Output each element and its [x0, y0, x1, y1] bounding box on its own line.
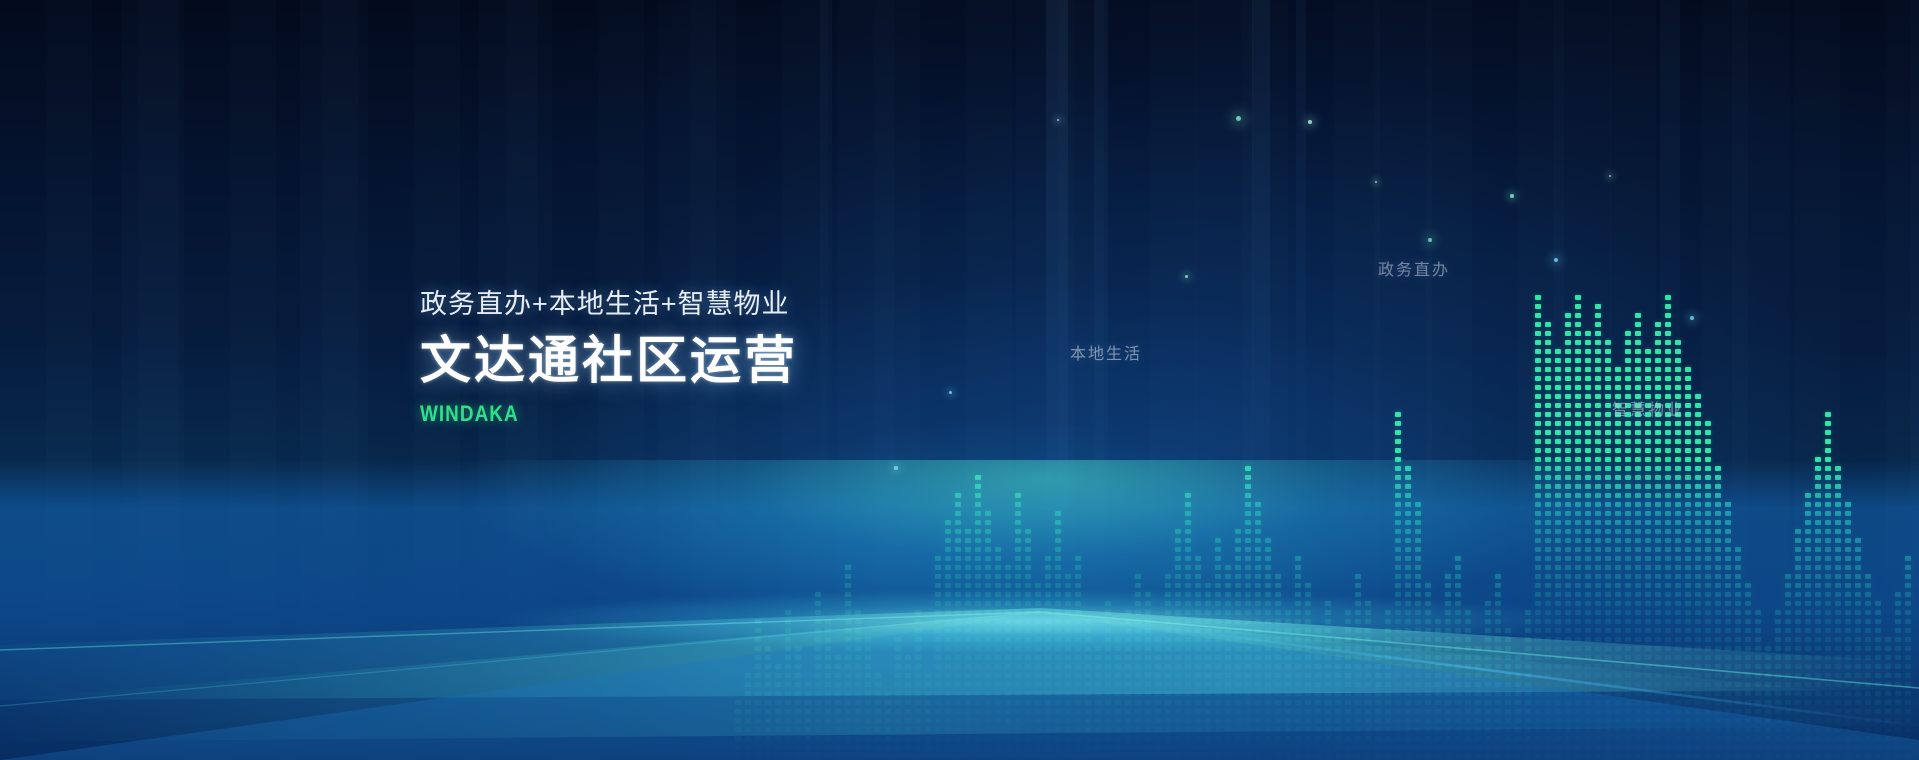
skyline-dot [1595, 601, 1601, 606]
skyline-dot [1185, 754, 1191, 759]
skyline-dot [1425, 601, 1431, 606]
skyline-dot [1685, 376, 1691, 381]
skyline-dot [1535, 340, 1541, 345]
skyline-dot [825, 655, 831, 660]
skyline-dot [1695, 574, 1701, 579]
skyline-dot [1545, 556, 1551, 561]
skyline-dot [1745, 592, 1751, 597]
skyline-dot [865, 745, 871, 750]
skyline-dot [1065, 592, 1071, 597]
skyline-dot [1595, 448, 1601, 453]
skyline-dot [1655, 448, 1661, 453]
skyline-dot [845, 619, 851, 624]
skyline-dot [1465, 664, 1471, 669]
skyline-dot [845, 691, 851, 696]
skyline-dot [1225, 664, 1231, 669]
skyline-dot [1245, 493, 1251, 498]
skyline-dot [1135, 736, 1141, 741]
skyline-dot [1745, 718, 1751, 723]
skyline-dot [1355, 709, 1361, 714]
skyline-dot [1905, 673, 1911, 678]
skyline-dot [1805, 583, 1811, 588]
skyline-dot [1605, 502, 1611, 507]
skyline-dot [1055, 664, 1061, 669]
skyline-dot [765, 700, 771, 705]
skyline-dot [865, 718, 871, 723]
skyline-dot [1155, 664, 1161, 669]
skyline-dot [1865, 727, 1871, 732]
skyline-dot [1825, 673, 1831, 678]
skyline-dot [1675, 493, 1681, 498]
skyline-dot [1055, 655, 1061, 660]
skyline-dot [1535, 295, 1541, 300]
skyline-dot [1215, 754, 1221, 759]
skyline-dot [1275, 745, 1281, 750]
skyline-dot [1525, 628, 1531, 633]
skyline-dot [1075, 691, 1081, 696]
skyline-dot [1635, 358, 1641, 363]
skyline-dot [1335, 637, 1341, 642]
skyline-dot [1675, 691, 1681, 696]
skyline-dot [1665, 628, 1671, 633]
skyline-dot [1405, 682, 1411, 687]
skyline-dot [1475, 736, 1481, 741]
skyline-dot [1745, 745, 1751, 750]
skyline-dot [1335, 664, 1341, 669]
skyline-dot [1165, 619, 1171, 624]
skyline-dot [1835, 547, 1841, 552]
skyline-dot [1395, 601, 1401, 606]
skyline-dot [1325, 709, 1331, 714]
skyline-dot [1105, 727, 1111, 732]
skyline-dot [1365, 610, 1371, 615]
skyline-dot [1285, 682, 1291, 687]
skyline-dot [1565, 637, 1571, 642]
skyline-dot [1605, 691, 1611, 696]
skyline-dot [1655, 610, 1661, 615]
skyline-dot [775, 727, 781, 732]
skyline-dot [1615, 718, 1621, 723]
skyline-dot [1565, 565, 1571, 570]
skyline-dot [1645, 538, 1651, 543]
skyline-dot [1685, 466, 1691, 471]
skyline-dot [1865, 619, 1871, 624]
skyline-dot [1265, 727, 1271, 732]
skyline-column [1005, 148, 1011, 760]
skyline-dot [1575, 547, 1581, 552]
skyline-dot [1585, 691, 1591, 696]
skyline-dot [1835, 673, 1841, 678]
skyline-dot [1295, 700, 1301, 705]
skyline-dot [1135, 673, 1141, 678]
skyline-dot [1355, 655, 1361, 660]
skyline-dot [1215, 574, 1221, 579]
skyline-dot [1655, 331, 1661, 336]
skyline-dot [1275, 592, 1281, 597]
skyline-dot [755, 637, 761, 642]
skyline-dot [1405, 655, 1411, 660]
skyline-column [1295, 148, 1301, 760]
skyline-dot [1785, 646, 1791, 651]
skyline-dot [1675, 583, 1681, 588]
skyline-dot [965, 727, 971, 732]
skyline-dot [1435, 682, 1441, 687]
skyline-dot [1665, 484, 1671, 489]
skyline-dot [1245, 664, 1251, 669]
skyline-dot [1635, 637, 1641, 642]
skyline-dot [1595, 565, 1601, 570]
skyline-dot [1735, 664, 1741, 669]
skyline-dot [845, 565, 851, 570]
skyline-dot [1505, 727, 1511, 732]
skyline-dot [1275, 664, 1281, 669]
skyline-dot [855, 709, 861, 714]
skyline-column [1155, 148, 1161, 760]
skyline-dot [1565, 538, 1571, 543]
skyline-dot [1825, 664, 1831, 669]
skyline-dot [1655, 529, 1661, 534]
skyline-dot [1115, 727, 1121, 732]
skyline-dot [945, 727, 951, 732]
skyline-dot [1225, 583, 1231, 588]
skyline-dot [1285, 619, 1291, 624]
skyline-dot [1795, 565, 1801, 570]
skyline-dot [1885, 691, 1891, 696]
skyline-dot [855, 754, 861, 759]
skyline-dot [1005, 592, 1011, 597]
skyline-dot [1585, 682, 1591, 687]
skyline-dot [1545, 700, 1551, 705]
skyline-dot [1725, 556, 1731, 561]
skyline-dot [1345, 610, 1351, 615]
skyline-dot [1065, 628, 1071, 633]
skyline-dot [1725, 646, 1731, 651]
skyline-dot [1635, 322, 1641, 327]
skyline-dot [1205, 745, 1211, 750]
skyline-dot [1285, 709, 1291, 714]
skyline-dot [1675, 655, 1681, 660]
skyline-dot [945, 529, 951, 534]
skyline-dot [1825, 727, 1831, 732]
skyline-dot [1365, 691, 1371, 696]
skyline-column [1875, 148, 1881, 760]
skyline-dot [1485, 709, 1491, 714]
skyline-dot [1585, 538, 1591, 543]
skyline-dot [1595, 385, 1601, 390]
skyline-dot [845, 574, 851, 579]
skyline-dot [965, 637, 971, 642]
skyline-dot [1535, 610, 1541, 615]
skyline-dot [1625, 628, 1631, 633]
skyline-dot [825, 682, 831, 687]
skyline-dot [1175, 754, 1181, 759]
skyline-dot [1675, 700, 1681, 705]
skyline-dot [1745, 709, 1751, 714]
skyline-dot [895, 655, 901, 660]
skyline-dot [1025, 529, 1031, 534]
skyline-dot [1545, 421, 1551, 426]
skyline-dot [1805, 556, 1811, 561]
skyline-dot [1615, 457, 1621, 462]
skyline-dot [1545, 583, 1551, 588]
skyline-dot [935, 655, 941, 660]
skyline-dot [755, 754, 761, 759]
skyline-dot [1565, 367, 1571, 372]
skyline-dot [1665, 556, 1671, 561]
skyline-dot [1555, 754, 1561, 759]
skyline-dot [1535, 655, 1541, 660]
skyline-dot [1365, 718, 1371, 723]
skyline-dot [1585, 439, 1591, 444]
skyline-dot [1395, 529, 1401, 534]
skyline-dot [1635, 565, 1641, 570]
skyline-column [1185, 148, 1191, 760]
skyline-dot [1905, 745, 1911, 750]
skyline-tag-2: 本地生活 [1070, 340, 1142, 364]
skyline-dot [1385, 700, 1391, 705]
skyline-dot [1045, 646, 1051, 651]
skyline-dot [1695, 673, 1701, 678]
skyline-dot [975, 628, 981, 633]
skyline-column [1345, 148, 1351, 760]
skyline-dot [1545, 448, 1551, 453]
skyline-dot [815, 619, 821, 624]
skyline-column [1685, 148, 1691, 760]
skyline-dot [965, 547, 971, 552]
skyline-dot [1905, 664, 1911, 669]
skyline-dot [1505, 646, 1511, 651]
skyline-dot [1635, 538, 1641, 543]
skyline-dot [1225, 610, 1231, 615]
skyline-dot [1545, 655, 1551, 660]
skyline-dot [1725, 664, 1731, 669]
skyline-dot [795, 682, 801, 687]
skyline-dot [1345, 673, 1351, 678]
skyline-dot [1075, 673, 1081, 678]
skyline-dot [1025, 700, 1031, 705]
skyline-dot [1025, 601, 1031, 606]
skyline-dot [835, 691, 841, 696]
skyline-dot [1815, 700, 1821, 705]
skyline-column [1435, 148, 1441, 760]
skyline-dot [1715, 709, 1721, 714]
skyline-dot [1905, 736, 1911, 741]
skyline-dot [1625, 529, 1631, 534]
skyline-dot [1585, 376, 1591, 381]
skyline-dot [1175, 529, 1181, 534]
skyline-dot [1365, 664, 1371, 669]
skyline-dot [1855, 583, 1861, 588]
skyline-dot [1585, 574, 1591, 579]
skyline-dot [1255, 664, 1261, 669]
skyline-dot [1825, 466, 1831, 471]
skyline-dot [1545, 709, 1551, 714]
skyline-dot [915, 619, 921, 624]
skyline-dot [1395, 475, 1401, 480]
skyline-dot [1305, 736, 1311, 741]
skyline-dot [1895, 745, 1901, 750]
skyline-dot [1795, 718, 1801, 723]
skyline-dot [1815, 484, 1821, 489]
skyline-dot [1535, 646, 1541, 651]
skyline-dot [1565, 655, 1571, 660]
skyline-dot [1285, 727, 1291, 732]
skyline-dot [1635, 349, 1641, 354]
skyline-dot [1635, 736, 1641, 741]
skyline-dot [1085, 727, 1091, 732]
skyline-dot [1675, 574, 1681, 579]
skyline-dot [1815, 646, 1821, 651]
skyline-dot [1315, 682, 1321, 687]
skyline-dot [795, 691, 801, 696]
skyline-dot [1035, 619, 1041, 624]
skyline-dot [1845, 655, 1851, 660]
skyline-dot [1625, 466, 1631, 471]
skyline-dot [1405, 592, 1411, 597]
skyline-dot [1705, 565, 1711, 570]
skyline-dot [1645, 646, 1651, 651]
skyline-dot [1835, 466, 1841, 471]
skyline-dot [945, 574, 951, 579]
skyline-dot [1355, 637, 1361, 642]
skyline-dot [955, 493, 961, 498]
skyline-dot [1015, 754, 1021, 759]
skyline-dot [1175, 745, 1181, 750]
skyline-dot [1565, 511, 1571, 516]
skyline-dot [1045, 745, 1051, 750]
skyline-dot [785, 637, 791, 642]
skyline-dot [1125, 655, 1131, 660]
skyline-dot [1355, 673, 1361, 678]
skyline-dot [1685, 475, 1691, 480]
skyline-column [875, 148, 881, 760]
skyline-dot [1245, 583, 1251, 588]
skyline-dot [1255, 637, 1261, 642]
skyline-dot [995, 583, 1001, 588]
skyline-column [1715, 148, 1721, 760]
skyline-dot [1215, 682, 1221, 687]
skyline-dot [1705, 628, 1711, 633]
skyline-dot [905, 718, 911, 723]
sparkle-icon [949, 391, 952, 394]
skyline-dot [1205, 646, 1211, 651]
skyline-dot [1785, 619, 1791, 624]
skyline-dot [1165, 574, 1171, 579]
skyline-dot [1155, 637, 1161, 642]
skyline-dot [1895, 682, 1901, 687]
skyline-dot [1815, 457, 1821, 462]
skyline-dot [1645, 493, 1651, 498]
skyline-dot [1575, 412, 1581, 417]
skyline-dot [1065, 574, 1071, 579]
skyline-dot [1635, 448, 1641, 453]
skyline-dot [1185, 583, 1191, 588]
skyline-dot [1125, 664, 1131, 669]
skyline-dot [785, 655, 791, 660]
skyline-dot [1715, 511, 1721, 516]
skyline-dot [1665, 601, 1671, 606]
skyline-dot [865, 709, 871, 714]
skyline-dot [1225, 637, 1231, 642]
skyline-dot [1605, 718, 1611, 723]
skyline-dot [1355, 619, 1361, 624]
skyline-column [1695, 148, 1701, 760]
skyline-dot [1735, 637, 1741, 642]
skyline-dot [1685, 565, 1691, 570]
skyline-dot [945, 673, 951, 678]
skyline-dot [975, 493, 981, 498]
skyline-dot [1895, 700, 1901, 705]
skyline-dot [1675, 556, 1681, 561]
skyline-dot [1645, 691, 1651, 696]
skyline-dot [1125, 709, 1131, 714]
skyline-dot [1255, 547, 1261, 552]
skyline-dot [1785, 610, 1791, 615]
skyline-dot [1715, 556, 1721, 561]
skyline-dot [1795, 700, 1801, 705]
skyline-dot [785, 727, 791, 732]
skyline-dot [875, 745, 881, 750]
skyline-dot [1725, 700, 1731, 705]
skyline-dot [1465, 682, 1471, 687]
skyline-dot [1645, 367, 1651, 372]
skyline-dot [1395, 412, 1401, 417]
skyline-dot [1555, 646, 1561, 651]
skyline-dot [755, 664, 761, 669]
skyline-dot [1165, 754, 1171, 759]
skyline-dot [1495, 691, 1501, 696]
skyline-dot [1855, 619, 1861, 624]
skyline-dot [1545, 628, 1551, 633]
skyline-dot [1895, 718, 1901, 723]
skyline-dot [1695, 691, 1701, 696]
skyline-dot [965, 556, 971, 561]
skyline-dot [1255, 574, 1261, 579]
skyline-dot [1415, 673, 1421, 678]
skyline-dot [1615, 529, 1621, 534]
skyline-dot [1175, 628, 1181, 633]
skyline-dot [1625, 682, 1631, 687]
skyline-dot [1215, 664, 1221, 669]
skyline-dot [785, 646, 791, 651]
sparkle-icon [1609, 175, 1612, 178]
skyline-dot [1395, 628, 1401, 633]
skyline-dot [1615, 682, 1621, 687]
skyline-dot [1145, 682, 1151, 687]
skyline-dot [935, 565, 941, 570]
skyline-dot [795, 745, 801, 750]
skyline-dot [935, 664, 941, 669]
skyline-dot [905, 736, 911, 741]
skyline-dot [1245, 682, 1251, 687]
skyline-dot [1525, 646, 1531, 651]
skyline-dot [1675, 727, 1681, 732]
skyline-dot [1845, 664, 1851, 669]
skyline-dot [1265, 601, 1271, 606]
skyline-dot [945, 736, 951, 741]
skyline-dot [1825, 547, 1831, 552]
skyline-dot [1575, 475, 1581, 480]
skyline-dot [1405, 646, 1411, 651]
skyline-dot [995, 754, 1001, 759]
skyline-dot [875, 682, 881, 687]
skyline-dot [1625, 439, 1631, 444]
skyline-dot [1595, 628, 1601, 633]
skyline-dot [885, 718, 891, 723]
skyline-dot [1865, 655, 1871, 660]
skyline-dot [875, 691, 881, 696]
skyline-dot [995, 691, 1001, 696]
